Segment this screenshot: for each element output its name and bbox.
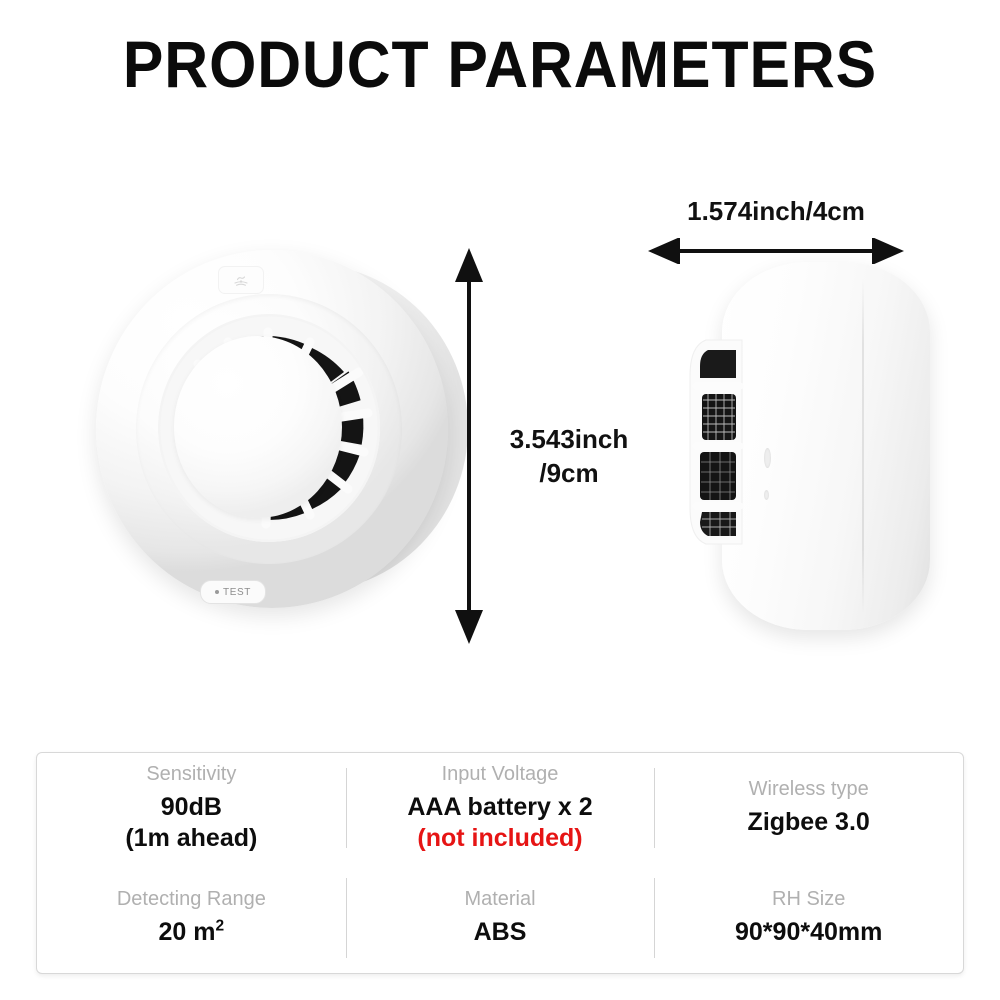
spec-value: AAA battery x 2 (not included)	[407, 792, 592, 854]
spec-label: Material	[464, 888, 535, 911]
spec-row: Detecting Range 20 m2 Material ABS RH Si…	[37, 863, 963, 973]
spec-label: Detecting Range	[117, 888, 266, 911]
spec-cell-rh-size: RH Size 90*90*40mm	[654, 863, 963, 973]
spec-value: 90*90*40mm	[735, 917, 882, 948]
height-dimension-arrow	[452, 248, 486, 644]
width-dimension-label: 1.574inch/4cm	[640, 196, 912, 227]
height-dimension-cm: /9cm	[494, 456, 644, 490]
detector-side-pinhole-upper	[764, 448, 771, 468]
test-indicator-dot	[215, 590, 219, 594]
spec-cell-input-voltage: Input Voltage AAA battery x 2 (not inclu…	[346, 753, 655, 863]
test-button-label: TEST	[223, 587, 251, 598]
spec-label: Wireless type	[749, 778, 869, 801]
spec-cell-material: Material ABS	[346, 863, 655, 973]
spec-cell-sensitivity: Sensitivity 90dB (1m ahead)	[37, 753, 346, 863]
spec-value: Zigbee 3.0	[748, 807, 870, 838]
spec-value-line1: 90dB	[161, 793, 222, 821]
spec-value: 20 m2	[159, 917, 225, 948]
test-button[interactable]: TEST	[200, 580, 266, 604]
spec-label: Sensitivity	[146, 763, 236, 786]
specification-table: Sensitivity 90dB (1m ahead) Input Voltag…	[36, 752, 964, 974]
height-dimension-label: 3.543inch /9cm	[494, 422, 644, 490]
spec-value-superscript: 2	[216, 918, 225, 935]
height-dimension-inch: 3.543inch	[494, 422, 644, 456]
product-illustration-stage: TEST	[0, 150, 1000, 710]
spec-cell-detecting-range: Detecting Range 20 m2	[37, 863, 346, 973]
spec-row: Sensitivity 90dB (1m ahead) Input Voltag…	[37, 753, 963, 863]
spec-value-note: (not included)	[417, 824, 582, 852]
detector-side-vents	[686, 336, 756, 548]
spec-value-line1: Zigbee 3.0	[748, 808, 870, 836]
spec-label: RH Size	[772, 888, 845, 911]
spec-label: Input Voltage	[442, 763, 559, 786]
smoke-signal-icon	[218, 266, 264, 294]
spec-value-line1: AAA battery x 2	[407, 793, 592, 821]
spec-cell-wireless-type: Wireless type Zigbee 3.0	[654, 753, 963, 863]
detector-shell-seam	[862, 278, 864, 614]
spec-value-line1: 90*90*40mm	[735, 918, 882, 946]
detector-center-disc	[174, 336, 342, 518]
spec-value: 90dB (1m ahead)	[125, 792, 257, 854]
page-title: PRODUCT PARAMETERS	[40, 26, 960, 102]
spec-value-line1: 20 m	[159, 918, 216, 946]
spec-value-line2: (1m ahead)	[125, 824, 257, 852]
width-dimension-arrow	[648, 238, 904, 264]
product-front-view: TEST	[96, 250, 476, 650]
spec-value-line1: ABS	[474, 918, 527, 946]
product-side-view	[680, 262, 930, 642]
spec-value: ABS	[474, 917, 527, 948]
detector-side-pinhole-lower	[764, 490, 769, 500]
